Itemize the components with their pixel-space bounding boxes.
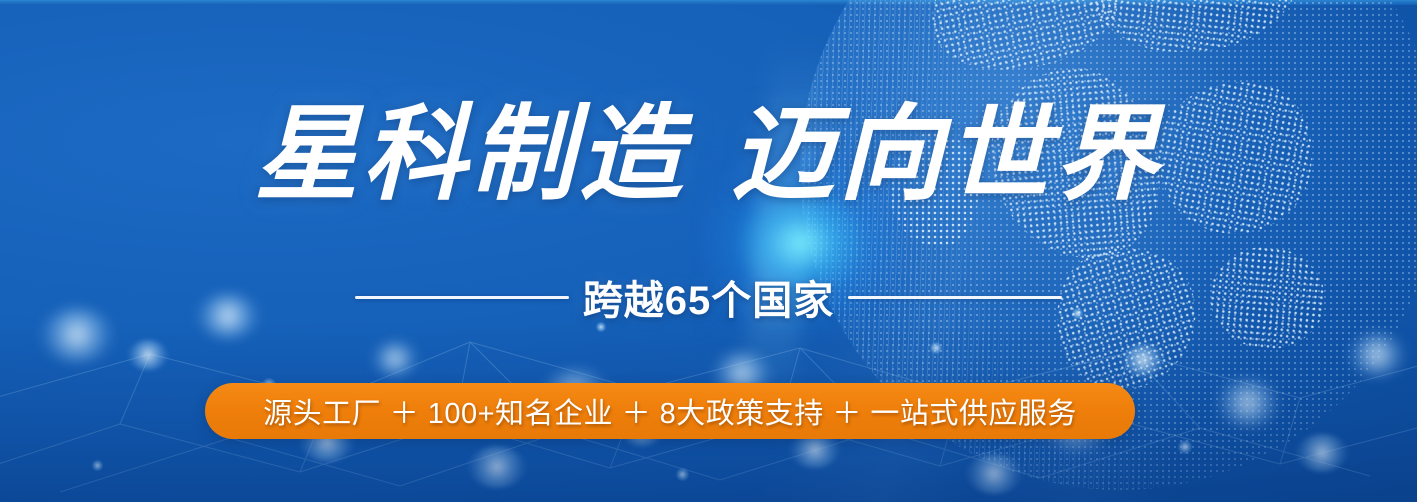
cta-label: 源头工厂 ＋ 100+知名企业 ＋ 8大政策支持 ＋ 一站式供应服务 [263, 390, 1077, 432]
headline-part-1: 星科制造 [254, 98, 686, 213]
banner-content: 星科制造迈向世界 跨越65个国家 源头工厂 ＋ 100+知名企业 ＋ 8大政策支… [0, 0, 1417, 502]
headline-part-2: 迈向世界 [731, 98, 1163, 213]
divider-right [848, 296, 1062, 299]
subtitle-row: 跨越65个国家 [0, 268, 1417, 326]
divider-left [355, 296, 569, 299]
promo-banner: 星科制造迈向世界 跨越65个国家 源头工厂 ＋ 100+知名企业 ＋ 8大政策支… [0, 0, 1417, 502]
subtitle: 跨越65个国家 [583, 268, 835, 326]
cta-pill[interactable]: 源头工厂 ＋ 100+知名企业 ＋ 8大政策支持 ＋ 一站式供应服务 [205, 383, 1135, 439]
headline: 星科制造迈向世界 [0, 104, 1417, 208]
